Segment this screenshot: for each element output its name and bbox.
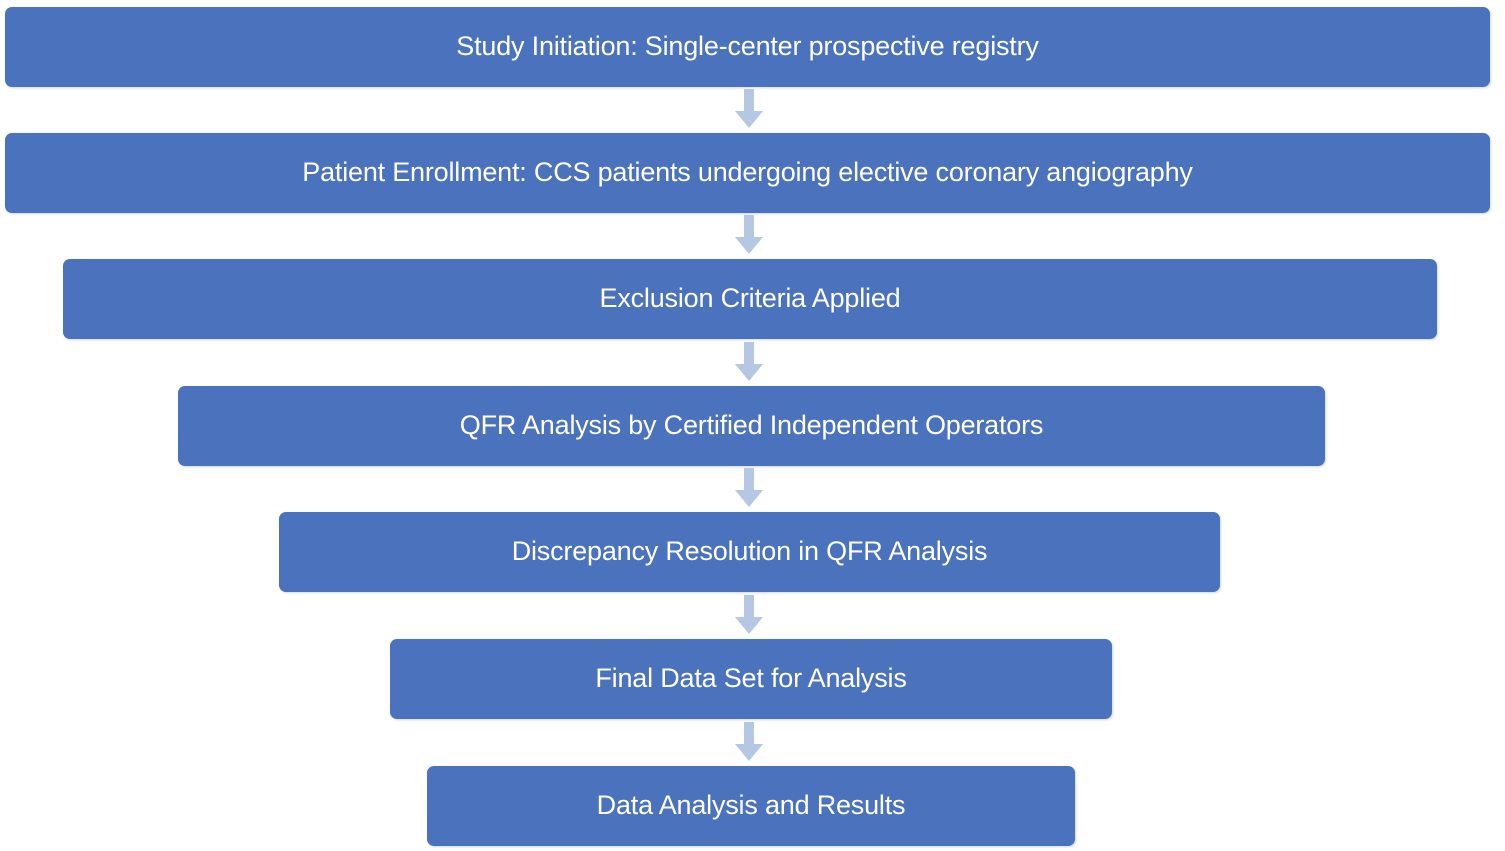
flow-node-label: Study Initiation: Single-center prospect… xyxy=(444,32,1050,62)
flow-node-label: Patient Enrollment: CCS patients undergo… xyxy=(290,158,1204,188)
flow-arrow-down-5 xyxy=(734,595,764,635)
flow-node-label: Data Analysis and Results xyxy=(585,791,918,821)
flow-node-exclusion-criteria[interactable]: Exclusion Criteria Applied xyxy=(63,259,1437,339)
flow-node-label: Exclusion Criteria Applied xyxy=(588,284,913,314)
flowchart-canvas: Study Initiation: Single-center prospect… xyxy=(0,0,1505,851)
flow-node-label: Discrepancy Resolution in QFR Analysis xyxy=(500,537,1000,567)
flow-arrow-down-1 xyxy=(734,89,764,129)
flow-node-label: Final Data Set for Analysis xyxy=(583,664,918,694)
flow-node-study-initiation[interactable]: Study Initiation: Single-center prospect… xyxy=(5,7,1490,87)
flow-node-label: QFR Analysis by Certified Independent Op… xyxy=(448,411,1055,441)
flow-node-discrepancy-resolution[interactable]: Discrepancy Resolution in QFR Analysis xyxy=(279,512,1220,592)
flow-arrow-down-6 xyxy=(734,722,764,762)
flow-arrow-down-2 xyxy=(734,215,764,255)
flow-node-final-data-set[interactable]: Final Data Set for Analysis xyxy=(390,639,1112,719)
flow-node-patient-enrollment[interactable]: Patient Enrollment: CCS patients undergo… xyxy=(5,133,1490,213)
flow-node-qfr-analysis[interactable]: QFR Analysis by Certified Independent Op… xyxy=(178,386,1325,466)
flow-node-data-analysis-results[interactable]: Data Analysis and Results xyxy=(427,766,1075,846)
flow-arrow-down-3 xyxy=(734,342,764,382)
flow-arrow-down-4 xyxy=(734,468,764,508)
